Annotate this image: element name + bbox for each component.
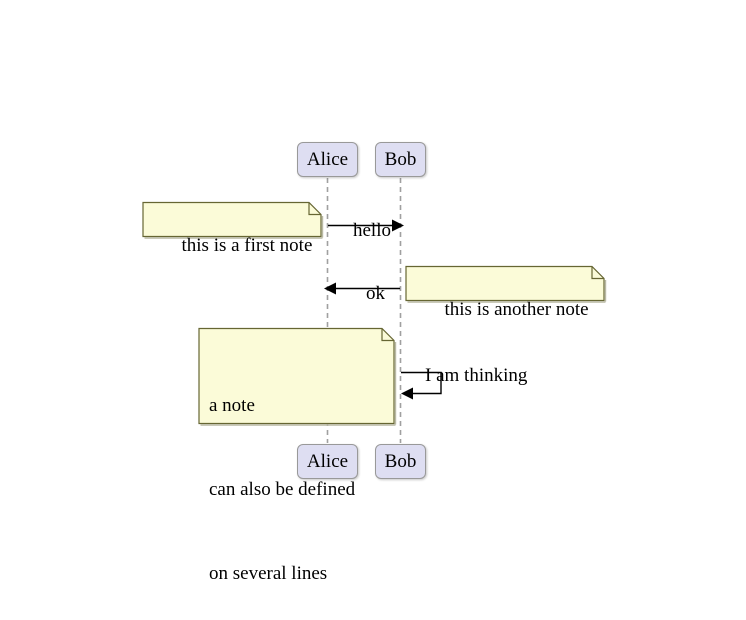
message-label-hello: hello xyxy=(334,202,391,259)
note-another[interactable]: this is another note xyxy=(406,266,604,301)
sequence-diagram-canvas: Alice Bob Alice Bob this is a first note… xyxy=(0,0,746,620)
note-first[interactable]: this is a first note xyxy=(143,202,321,237)
note-first-text: this is a first note xyxy=(143,202,321,291)
participant-box-bob[interactable]: Bob xyxy=(375,142,426,177)
participant-label-alice: Alice xyxy=(307,150,348,169)
note-multiline-text: a note can also be defined on several li… xyxy=(199,328,394,620)
note-multiline[interactable]: a note can also be defined on several li… xyxy=(199,328,394,424)
message-label-thinking: I am thinking xyxy=(406,347,527,404)
note-multiline-line-2: can also be defined xyxy=(209,476,384,504)
note-first-line-1: this is a first note xyxy=(182,235,313,256)
note-another-line-1: this is another note xyxy=(445,299,589,320)
message-label-ok-text: ok xyxy=(366,283,385,304)
message-label-hello-text: hello xyxy=(353,220,391,241)
note-multiline-line-1: a note xyxy=(209,392,384,420)
message-label-thinking-text: I am thinking xyxy=(425,365,527,386)
participant-label-bob: Bob xyxy=(385,150,417,169)
note-multiline-line-3: on several lines xyxy=(209,560,384,588)
participant-box-alice[interactable]: Alice xyxy=(297,142,358,177)
message-label-ok: ok xyxy=(347,265,385,322)
note-another-text: this is another note xyxy=(406,266,604,355)
